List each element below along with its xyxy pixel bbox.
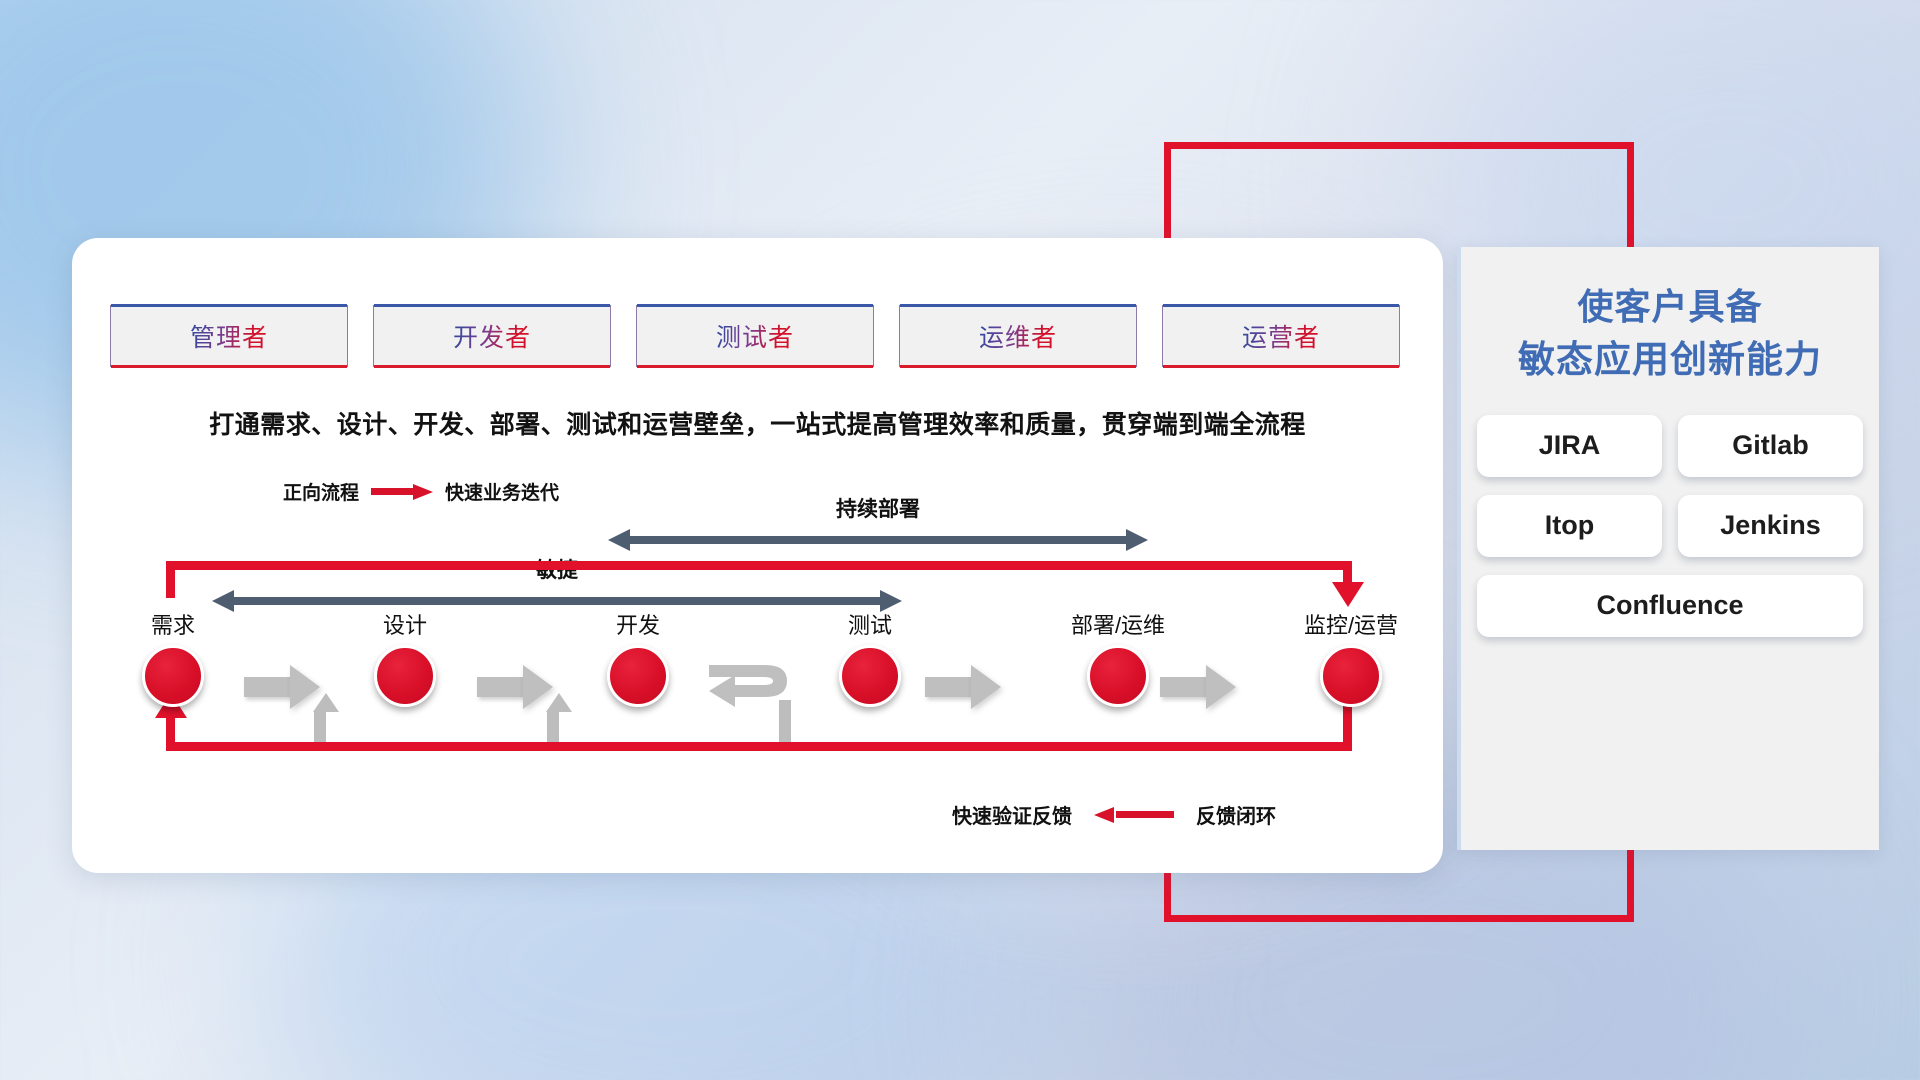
stage-dot [1320,645,1382,707]
stage-develop[interactable]: 开发 [578,615,698,707]
continuous-deployment-measure: 持续部署 [608,527,1148,553]
stage-label: 测试 [810,615,930,637]
double-headed-arrow-icon [212,590,234,612]
stage-dot [374,645,436,707]
tool-chip-gitlab[interactable]: Gitlab [1678,415,1863,477]
role-box-manager[interactable]: 管理者 [110,305,348,367]
bracket-bottom-segment [1164,915,1634,922]
bracket-top-segment [1164,142,1634,149]
red-arrow-left-icon [1094,807,1174,822]
feedback-caption: 快速验证反馈 反馈闭环 [952,800,1276,829]
tools-grid: JIRA Gitlab Itop Jenkins Confluence [1477,415,1863,637]
stage-monitor-operate[interactable]: 监控/运营 [1276,615,1426,707]
stage-test[interactable]: 测试 [810,615,930,707]
forward-flow-caption: 正向流程 快速业务迭代 [283,478,559,505]
pipeline-loop-top [166,561,1352,570]
pipeline-loop-bottom [166,742,1352,751]
headline-text: 打通需求、设计、开发、部署、测试和运营壁垒，一站式提高管理效率和质量，贯穿端到端… [72,405,1443,441]
stage-design[interactable]: 设计 [345,615,465,707]
stage-label: 设计 [345,615,465,637]
feedback-left-label: 快速验证反馈 [952,800,1072,829]
stage-dot [607,645,669,707]
stage-label: 开发 [578,615,698,637]
forward-flow-right-label: 快速业务迭代 [445,478,559,505]
stage-label: 部署/运维 [1043,615,1193,637]
role-box-business-operator[interactable]: 运营者 [1162,305,1400,367]
forward-flow-left-label: 正向流程 [283,478,359,505]
role-label: 运维者 [979,318,1057,354]
role-label: 开发者 [453,318,531,354]
tool-chip-jenkins[interactable]: Jenkins [1678,495,1863,557]
role-box-tester[interactable]: 测试者 [636,305,874,367]
panel-title-line-2: 敏态应用创新能力 [1461,333,1879,387]
feedback-right-label: 反馈闭环 [1196,800,1276,829]
stage-label: 需求 [113,615,233,637]
panel-title: 使客户具备 敏态应用创新能力 [1461,247,1879,387]
stage-dot [142,645,204,707]
stage-demand[interactable]: 需求 [113,615,233,707]
role-box-developer[interactable]: 开发者 [373,305,611,367]
loop-arrowhead-down-icon [1332,582,1364,607]
continuous-deployment-label: 持续部署 [608,493,1148,523]
role-label: 管理者 [190,318,268,354]
role-box-operations-engineer[interactable]: 运维者 [899,305,1137,367]
tool-chip-confluence[interactable]: Confluence [1477,575,1863,637]
double-headed-arrow-icon [608,529,630,551]
pipeline-stages: 需求 设计 开发 测试 部署/运维 监控/运营 [120,615,1410,725]
stage-dot [1087,645,1149,707]
stage-deploy-ops[interactable]: 部署/运维 [1043,615,1193,707]
stage-dot [839,645,901,707]
agile-measure: 敏捷 [212,588,902,614]
panel-title-line-1: 使客户具备 [1461,281,1879,333]
tool-chip-itop[interactable]: Itop [1477,495,1662,557]
pipeline-loop-top-left [166,561,175,598]
value-proposition-panel: 使客户具备 敏态应用创新能力 JIRA Gitlab Itop Jenkins … [1457,247,1879,850]
role-label: 运营者 [1242,318,1320,354]
stage-label: 监控/运营 [1276,615,1426,637]
tool-chip-jira[interactable]: JIRA [1477,415,1662,477]
roles-row: 管理者 开发者 测试者 运维者 运营者 [110,305,1400,367]
role-label: 测试者 [716,318,794,354]
red-arrow-right-icon [371,484,433,499]
